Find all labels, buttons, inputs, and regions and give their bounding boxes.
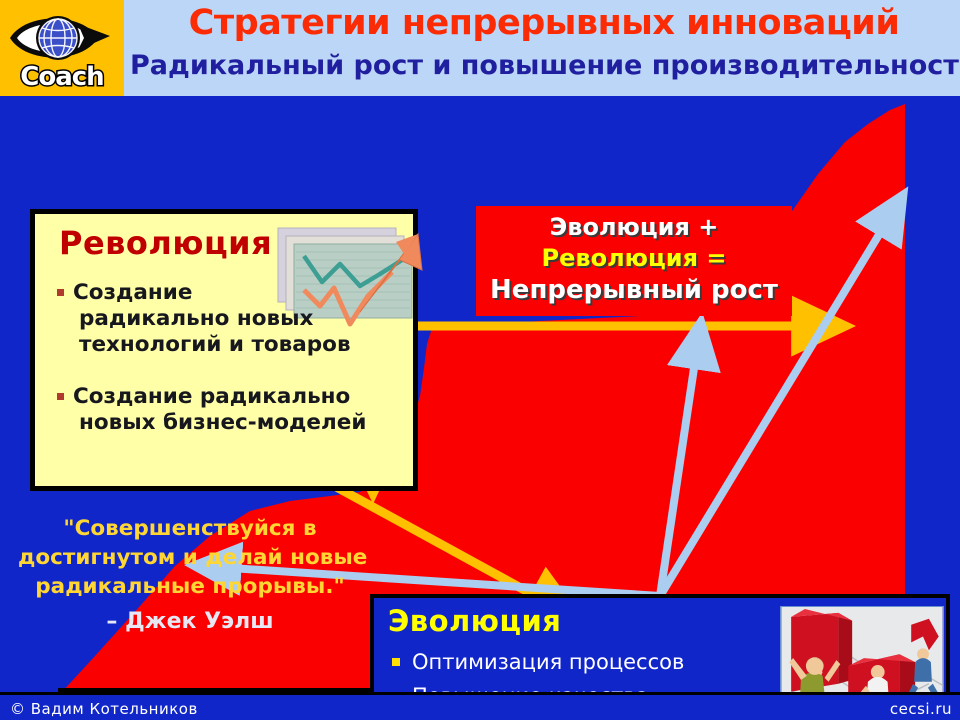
revolution-item-1-line1: Создание радикально <box>73 384 350 409</box>
bullet-icon <box>392 658 400 666</box>
eye-globe-icon <box>6 10 118 66</box>
revolution-bullet-1: Создание радикально новых бизнес-моделей <box>57 384 407 436</box>
logo-wordmark: Coach <box>0 62 124 92</box>
revolution-item-1-line2: новых бизнес-моделей <box>79 410 407 436</box>
revolution-panel: Революция <box>30 209 418 491</box>
website-label[interactable]: cecsi.ru <box>890 700 952 718</box>
evolution-panel: Эволюция <box>370 594 950 692</box>
copyright-label: © Вадим Котельников <box>10 700 198 718</box>
revolution-item-0-line3: технологий и товаров <box>79 332 407 358</box>
formula-line-1: Революция = <box>476 244 792 272</box>
page-subtitle: Радикальный рост и повышение производите… <box>130 50 958 81</box>
page-title: Стратегии непрерывных инноваций <box>130 3 958 43</box>
revolution-item-0-line2: радикально новых <box>79 306 407 332</box>
revolution-bullet-0: Создание радикально новых технологий и т… <box>57 280 407 358</box>
slide-canvas: Coach Стратегии непрерывных инноваций Ра… <box>0 0 960 720</box>
evolution-bullet-1: Повышение качества <box>392 684 649 692</box>
evolution-title: Эволюция <box>388 604 561 638</box>
quote-line-1: "Совершенствуйся в <box>18 514 362 543</box>
evolution-item-label-1: Повышение качества <box>412 684 649 692</box>
quote-author: – Джек Уэлш <box>18 609 362 634</box>
slide-footer: © Вадим Котельников cecsi.ru <box>0 692 960 720</box>
bullet-icon <box>57 289 64 296</box>
formula-line-2: Непрерывный рост <box>476 275 792 305</box>
quote-text: "Совершенствуйся в достигнутом и делай н… <box>18 514 362 601</box>
formula-panel: Эволюция + Революция = Непрерывный рост <box>476 206 792 316</box>
slide-header: Coach Стратегии непрерывных инноваций Ра… <box>0 0 960 96</box>
evolution-bullet-0: Оптимизация процессов <box>392 650 684 674</box>
formula-line-0: Эволюция + <box>476 213 792 241</box>
revolution-title: Революция <box>59 224 272 262</box>
quote-line-2: достигнутом и делай новые <box>18 543 362 572</box>
quote-line-3: радикальные прорывы." <box>18 572 362 601</box>
revolution-item-0-line1: Создание <box>73 280 192 305</box>
growth-chart-area: Революция <box>0 96 960 692</box>
coach-logo: Coach <box>0 0 124 96</box>
evolution-item-label-0: Оптимизация процессов <box>412 650 684 674</box>
team-bar-chart-photo <box>780 606 944 692</box>
bullet-icon <box>57 393 64 400</box>
